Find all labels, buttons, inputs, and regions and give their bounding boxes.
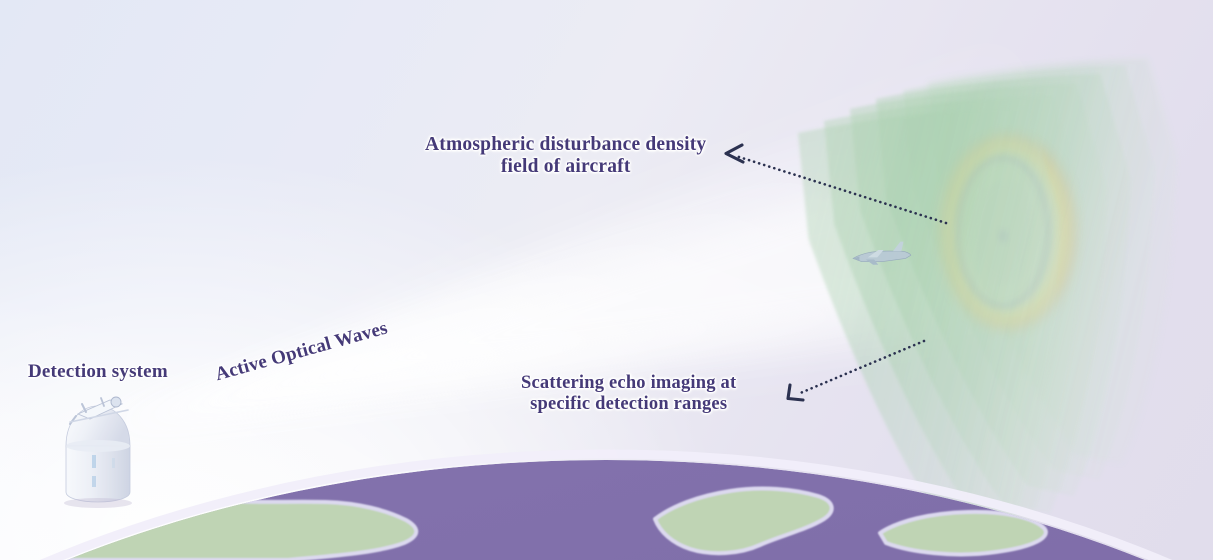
observatory-telescope: [64, 397, 132, 508]
label-scattering-echo: Scattering echo imaging at specific dete…: [521, 373, 736, 414]
label-scattering-echo-line1: Scattering echo imaging at: [521, 373, 736, 394]
diagram-canvas: Atmospheric disturbance density field of…: [0, 0, 1213, 560]
detection-system-layer: [0, 0, 1213, 560]
label-atmospheric-field: Atmospheric disturbance density field of…: [425, 134, 706, 178]
label-detection-system: Detection system: [28, 361, 168, 382]
label-scattering-echo-line2: specific detection ranges: [521, 394, 736, 415]
label-atmospheric-field-line2: field of aircraft: [425, 156, 706, 178]
label-atmospheric-field-line1: Atmospheric disturbance density: [425, 134, 706, 156]
